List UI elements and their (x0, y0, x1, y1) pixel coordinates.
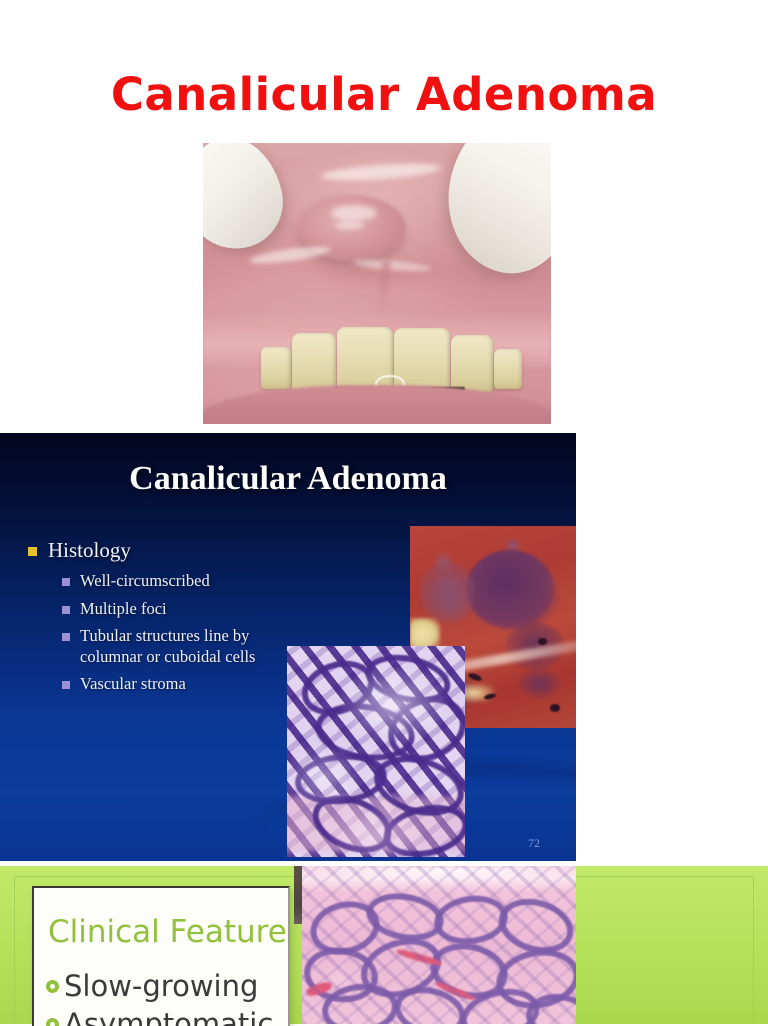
vessel (550, 704, 560, 712)
tumor-lobule (466, 550, 554, 628)
sub-bullet-list: Well-circumscribed Multiple foci Tubular… (62, 571, 308, 694)
nodule-highlight (331, 205, 377, 221)
slide-title: Canalicular Adenoma (0, 460, 576, 498)
clinical-photograph (203, 143, 551, 424)
stain-wash-overlay (287, 646, 465, 857)
clinical-features-bullet-list: Slow-growing Asymptomatic (46, 972, 290, 1026)
clinical-feature-item: Slow-growing (46, 972, 290, 1001)
clinical-feature-label: Slow-growing (64, 972, 258, 1001)
ring-bullet-icon (46, 1018, 59, 1026)
clinical-features-panel: Clinical Features: Slow-growing Asymptom… (32, 886, 290, 1026)
square-bullet-icon (62, 578, 70, 586)
nodule-highlight-secondary (335, 221, 365, 230)
histology-purple-canalicular-image (287, 646, 465, 857)
tooth (261, 347, 291, 389)
sub-bullet-label: Tubular structures line by columnar or c… (80, 626, 276, 667)
sub-bullet-label: Well-circumscribed (80, 571, 210, 591)
tissue-texture-overlay (302, 866, 576, 1024)
page-title: Canalicular Adenoma (0, 68, 768, 121)
clinical-features-heading: Clinical Features: (48, 914, 290, 950)
bullet-item-histology: Histology (28, 538, 308, 562)
tumor-lobule (420, 562, 476, 622)
sub-bullet-item: Vascular stroma (62, 674, 308, 694)
sub-bullet-label: Multiple foci (80, 599, 167, 619)
square-bullet-icon (62, 633, 70, 641)
sub-bullet-item: Multiple foci (62, 599, 308, 619)
square-bullet-icon (62, 681, 70, 689)
square-bullet-icon (28, 547, 37, 556)
sub-bullet-item: Well-circumscribed (62, 571, 308, 591)
ring-bullet-icon (46, 980, 59, 993)
tooth (451, 335, 493, 393)
bullet-label: Histology (48, 538, 131, 562)
sub-bullet-label: Vascular stroma (80, 674, 186, 694)
slide-bullet-list: Histology Well-circumscribed Multiple fo… (28, 538, 308, 701)
sub-bullet-item: Tubular structures line by columnar or c… (62, 626, 308, 667)
histology-pink-low-power-image (302, 866, 576, 1024)
slide-number: 72 (528, 836, 540, 851)
vessel (538, 638, 547, 645)
square-bullet-icon (62, 606, 70, 614)
tooth (494, 349, 522, 389)
